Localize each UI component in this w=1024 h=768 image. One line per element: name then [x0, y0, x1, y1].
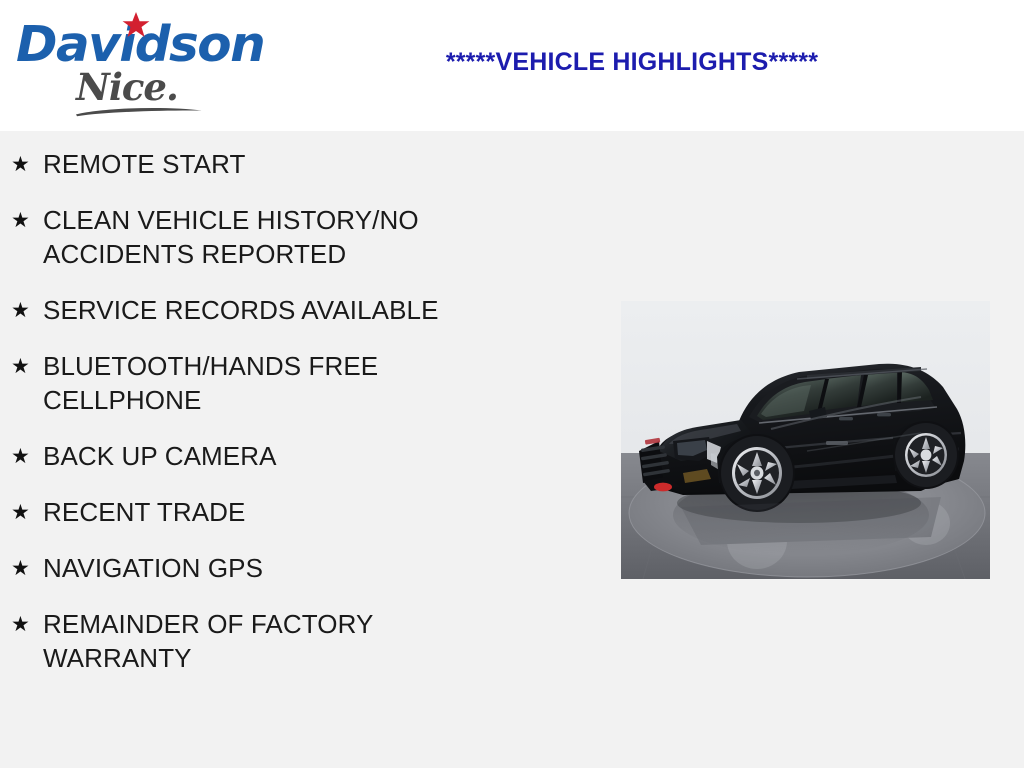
logo-underline-swoosh-icon	[74, 105, 204, 117]
vehicle-photo[interactable]	[621, 301, 990, 579]
list-item-label: REMOTE START	[43, 147, 495, 181]
list-item-label: BLUETOOTH/HANDS FREE CELLPHONE	[43, 349, 495, 417]
star-bullet-icon: ★	[11, 551, 43, 585]
list-item-label: NAVIGATION GPS	[43, 551, 495, 585]
list-item: ★ REMAINDER OF FACTORY WARRANTY	[0, 607, 600, 675]
list-item: ★ RECENT TRADE	[0, 495, 600, 529]
star-bullet-icon: ★	[11, 349, 43, 383]
dealer-logo[interactable]: Davidson Nice.	[14, 6, 274, 124]
page-body: ★ REMOTE START ★ CLEAN VEHICLE HISTORY/N…	[0, 131, 1024, 768]
star-bullet-icon: ★	[11, 495, 43, 529]
list-item: ★ CLEAN VEHICLE HISTORY/NO ACCIDENTS REP…	[0, 203, 600, 271]
logo-sub-lockup: Nice.	[76, 69, 216, 115]
list-item: ★ BLUETOOTH/HANDS FREE CELLPHONE	[0, 349, 600, 417]
logo-brand-name: Davidson	[16, 20, 264, 69]
star-bullet-icon: ★	[11, 203, 43, 237]
list-item-label: REMAINDER OF FACTORY WARRANTY	[43, 607, 495, 675]
logo-sub-name: Nice.	[76, 69, 178, 106]
star-bullet-icon: ★	[11, 147, 43, 181]
vehicle-highlights-page: Davidson Nice. *****VEHICLE HIGHLIGHTS**…	[0, 0, 1024, 768]
list-item-label: RECENT TRADE	[43, 495, 495, 529]
list-item: ★ NAVIGATION GPS	[0, 551, 600, 585]
list-item: ★ BACK UP CAMERA	[0, 439, 600, 473]
list-item: ★ SERVICE RECORDS AVAILABLE	[0, 293, 600, 327]
list-item: ★ REMOTE START	[0, 147, 600, 181]
page-title: *****VEHICLE HIGHLIGHTS*****	[352, 48, 912, 77]
list-item-label: CLEAN VEHICLE HISTORY/NO ACCIDENTS REPOR…	[43, 203, 495, 271]
vehicle-highlights-list: ★ REMOTE START ★ CLEAN VEHICLE HISTORY/N…	[0, 131, 600, 697]
page-header: Davidson Nice. *****VEHICLE HIGHLIGHTS**…	[0, 0, 1024, 131]
vehicle-photo-frame[interactable]	[621, 301, 990, 579]
star-bullet-icon: ★	[11, 293, 43, 327]
list-item-label: BACK UP CAMERA	[43, 439, 495, 473]
star-bullet-icon: ★	[11, 607, 43, 641]
list-item-label: SERVICE RECORDS AVAILABLE	[43, 293, 495, 327]
star-bullet-icon: ★	[11, 439, 43, 473]
